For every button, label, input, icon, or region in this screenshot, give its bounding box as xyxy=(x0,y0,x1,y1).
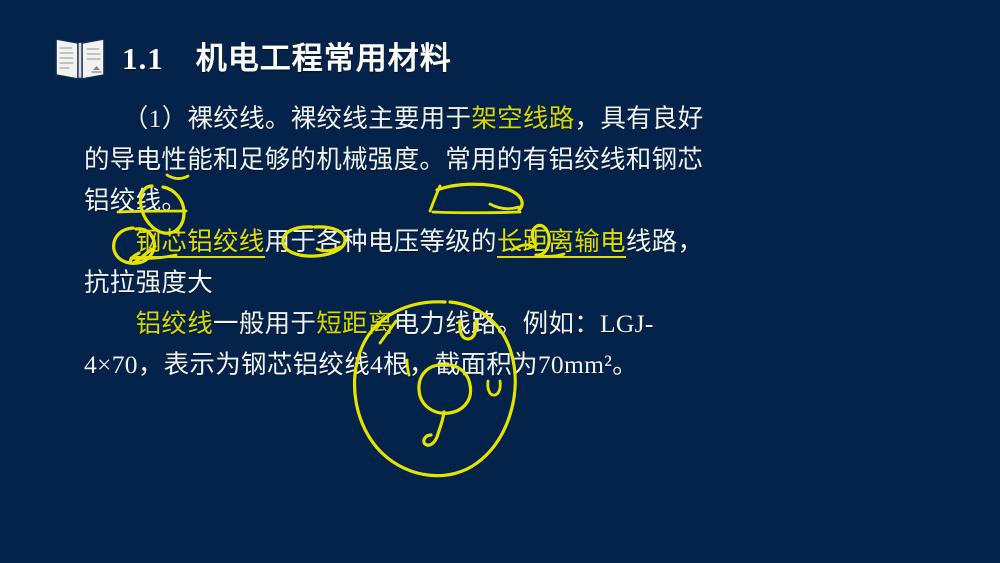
paragraph-1: （1）裸绞线。裸绞线主要用于架空线路，具有良好的导电性能和足够的机械强度。常用的… xyxy=(84,98,724,221)
open-book-icon xyxy=(52,33,108,83)
text-run: 一般用于 xyxy=(213,309,316,338)
paragraph-3: 铝绞线一般用于短距离电力线路。例如：LGJ-4×70，表示为钢芯铝绞线4根，截面… xyxy=(84,303,724,385)
paragraph-2: 钢芯铝绞线用于各种电压等级的长距离输电线路，抗拉强度大 xyxy=(84,221,724,303)
page-title: 1.1 机电工程常用材料 xyxy=(122,43,452,74)
annotation-inner-tail xyxy=(424,412,444,445)
text-run: （1）裸绞线。裸绞线主要用于 xyxy=(84,104,471,133)
slide-title-row: 1.1 机电工程常用材料 xyxy=(52,33,452,83)
text-run xyxy=(84,227,136,256)
highlight-jiakong-xianlu: 架空线路 xyxy=(471,104,574,133)
slide-canvas: 1.1 机电工程常用材料 （1）裸绞线。裸绞线主要用于架空线路，具有良好的导电性… xyxy=(0,0,1000,563)
highlight-duanjuli: 短距离 xyxy=(316,309,393,338)
text-run: 用于各种电压等级的 xyxy=(265,227,497,256)
slide-body: （1）裸绞线。裸绞线主要用于架空线路，具有良好的导电性能和足够的机械强度。常用的… xyxy=(84,98,724,385)
highlight-lvjiaoxian: 铝绞线 xyxy=(136,309,213,338)
highlight-gangxin-lvjiaoxian: 钢芯铝绞线 xyxy=(136,227,265,258)
highlight-changjuli-shudian: 长距离输电 xyxy=(497,227,626,258)
text-run xyxy=(84,309,136,338)
